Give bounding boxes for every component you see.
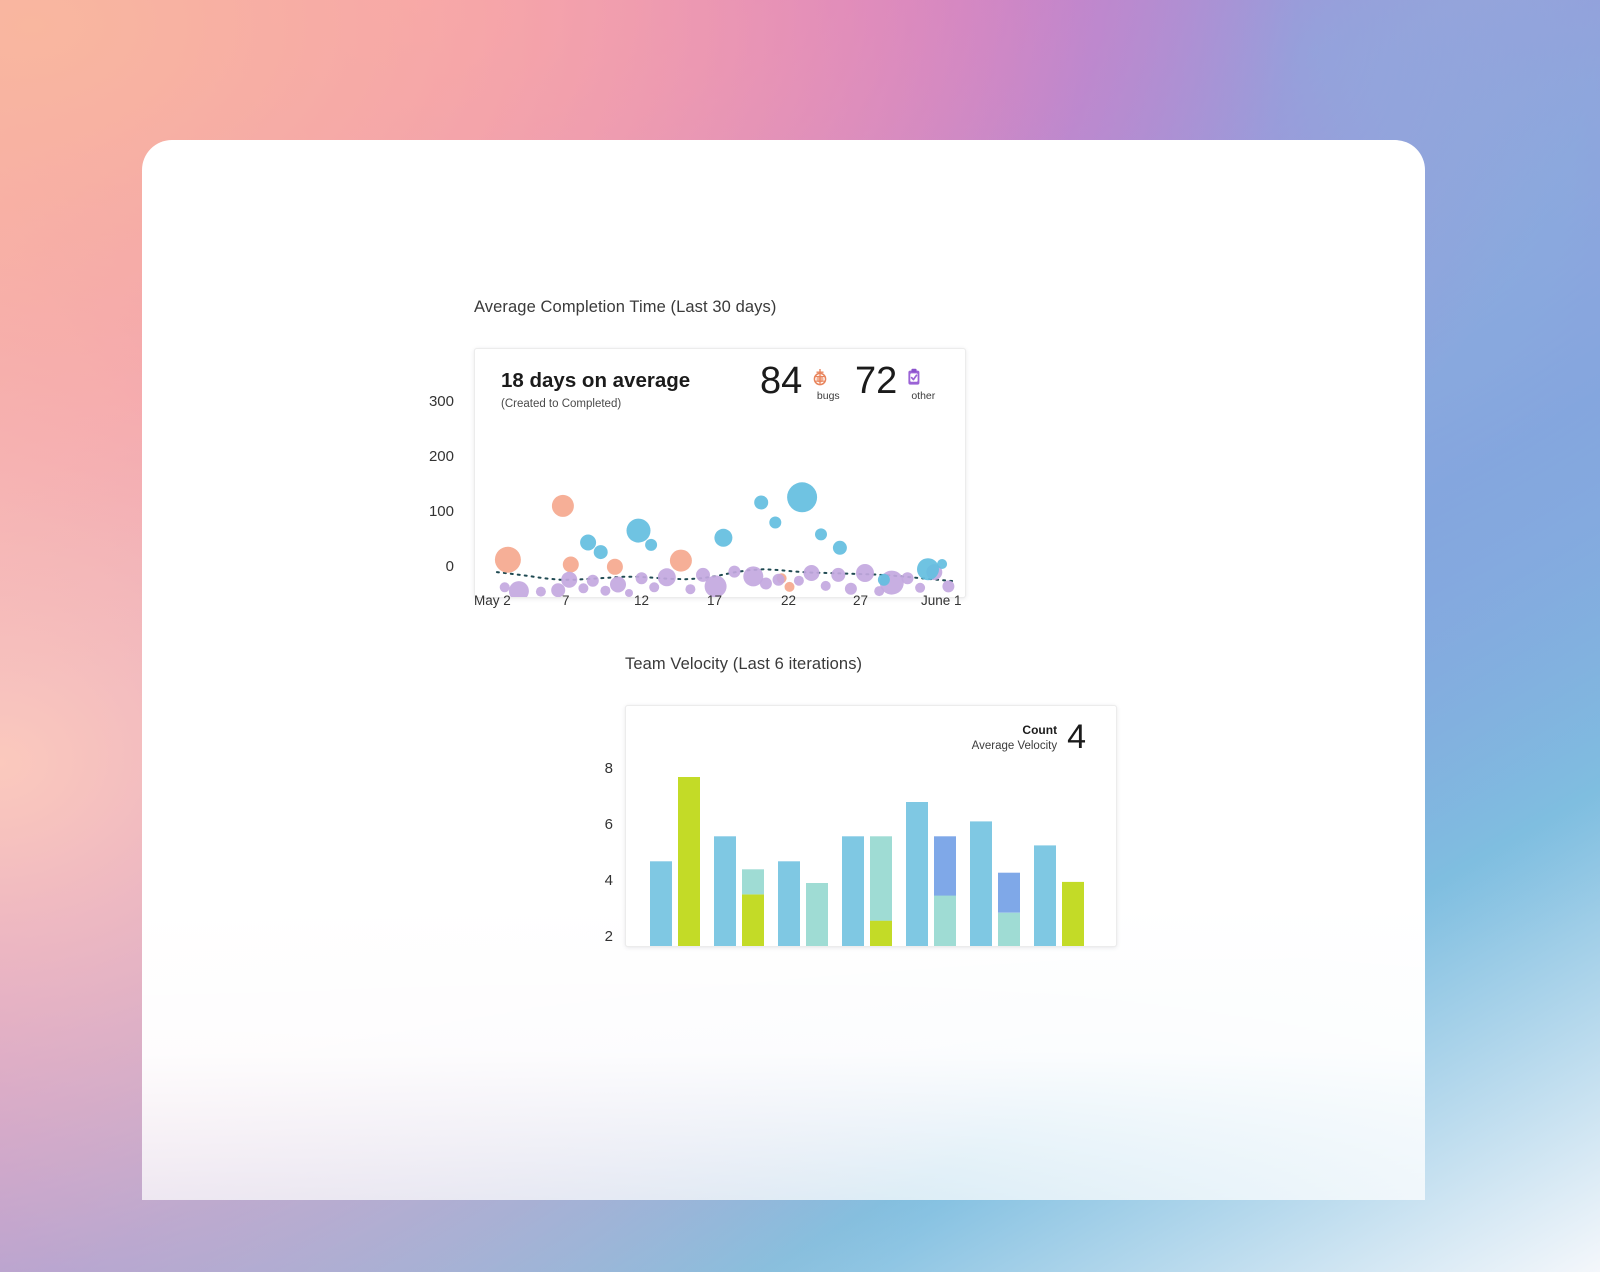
velocity-kpi-line2: Average Velocity	[972, 740, 1057, 752]
bubble-x-axis: May 2 7 12 17 22 27 June 1	[474, 593, 966, 613]
bar-segment[interactable]	[934, 896, 956, 948]
bugs-metric[interactable]: 84 bugs	[760, 362, 845, 402]
velocity-kpi: Count Average Velocity 4	[972, 720, 1086, 754]
bugs-metric-label: bugs	[811, 390, 845, 402]
bubble-kpi-headline: 18 days on average	[501, 369, 690, 393]
bubble-point[interactable]	[804, 565, 820, 581]
bar-group[interactable]	[778, 861, 828, 947]
bubble-x-tick-5: 27	[853, 593, 868, 608]
bubble-y-tick-100: 100	[429, 503, 454, 520]
bar-segment[interactable]	[842, 836, 864, 947]
bubble-point[interactable]	[785, 582, 795, 592]
other-metric-badge: other	[906, 368, 940, 402]
bubble-kpi-header: 18 days on average (Created to Completed…	[475, 349, 965, 423]
bubble-point[interactable]	[670, 550, 692, 572]
bug-icon	[811, 368, 845, 388]
bubble-point[interactable]	[728, 566, 740, 578]
bar-segment[interactable]	[870, 921, 892, 947]
team-velocity-widget: Team Velocity (Last 6 iterations) 8 6 4 …	[625, 655, 1117, 947]
bar-segment[interactable]	[998, 873, 1020, 913]
bubble-point[interactable]	[658, 568, 676, 586]
bubble-point[interactable]	[856, 564, 874, 582]
bar-y-tick-6: 6	[605, 816, 613, 833]
bubble-point[interactable]	[594, 545, 608, 559]
bubble-point[interactable]	[942, 580, 954, 592]
bubble-point[interactable]	[794, 576, 804, 586]
bar-segment[interactable]	[778, 861, 800, 947]
bar-y-tick-4: 4	[605, 872, 613, 889]
other-metric-value: 72	[855, 362, 897, 400]
bubble-point[interactable]	[563, 557, 579, 573]
bubble-point[interactable]	[769, 517, 781, 529]
velocity-kpi-labels: Count Average Velocity	[972, 723, 1057, 752]
bubble-point[interactable]	[917, 558, 939, 580]
bubble-point[interactable]	[760, 578, 772, 590]
bubble-point[interactable]	[610, 577, 626, 593]
bugs-metric-badge: bugs	[811, 368, 845, 402]
bar-segment[interactable]	[970, 821, 992, 947]
bubble-point[interactable]	[773, 574, 785, 586]
average-completion-time-widget: Average Completion Time (Last 30 days) 3…	[474, 298, 966, 598]
bubble-point[interactable]	[578, 583, 588, 593]
bubble-y-tick-0: 0	[446, 558, 454, 575]
bubble-point[interactable]	[495, 547, 521, 573]
bubble-point[interactable]	[821, 581, 831, 591]
bubble-point[interactable]	[636, 572, 648, 584]
bar-segment[interactable]	[678, 777, 700, 947]
bubble-kpi-subtitle: (Created to Completed)	[501, 398, 621, 410]
bubble-x-tick-4: 22	[781, 593, 796, 608]
bar-segment[interactable]	[1062, 882, 1084, 947]
bubble-point[interactable]	[552, 495, 574, 517]
bubble-x-tick-2: 12	[634, 593, 649, 608]
bar-group[interactable]	[1034, 845, 1084, 947]
bubble-y-tick-200: 200	[429, 448, 454, 465]
bubble-point[interactable]	[561, 572, 577, 588]
bubble-point[interactable]	[580, 535, 596, 551]
bubble-point[interactable]	[714, 529, 732, 547]
bubble-point[interactable]	[902, 572, 914, 584]
bar-segment[interactable]	[934, 836, 956, 895]
bubble-point[interactable]	[831, 568, 845, 582]
bubble-chart-card[interactable]: 18 days on average (Created to Completed…	[474, 348, 966, 598]
bar-group[interactable]	[842, 836, 892, 947]
bar-segment[interactable]	[1034, 845, 1056, 947]
bar-segment[interactable]	[806, 883, 828, 947]
bubble-point[interactable]	[500, 582, 510, 592]
bubble-y-tick-300: 300	[429, 393, 454, 410]
bubble-point[interactable]	[607, 559, 623, 575]
bubble-point[interactable]	[878, 574, 890, 586]
bar-y-tick-8: 8	[605, 760, 613, 777]
bubble-chart-title: Average Completion Time (Last 30 days)	[474, 298, 966, 317]
bugs-metric-value: 84	[760, 362, 802, 400]
bar-segment[interactable]	[906, 802, 928, 947]
bar-segment[interactable]	[870, 836, 892, 920]
bubble-point[interactable]	[787, 482, 817, 512]
bar-chart-card[interactable]: Count Average Velocity 4	[625, 705, 1117, 947]
bubble-x-tick-6: June 1	[921, 593, 962, 608]
bar-segment[interactable]	[650, 861, 672, 947]
velocity-kpi-line1: Count	[972, 723, 1057, 737]
bar-segment[interactable]	[742, 869, 764, 894]
other-metric[interactable]: 72 other	[855, 362, 940, 402]
bar-segment[interactable]	[742, 894, 764, 947]
bar-group[interactable]	[970, 821, 1020, 947]
bubble-x-tick-1: 7	[562, 593, 570, 608]
bubble-point[interactable]	[937, 559, 947, 569]
bar-group[interactable]	[714, 836, 764, 947]
bar-group[interactable]	[650, 777, 700, 947]
bubble-point[interactable]	[754, 496, 768, 510]
bubble-point[interactable]	[815, 528, 827, 540]
bar-y-tick-2: 2	[605, 928, 613, 945]
bar-group[interactable]	[906, 802, 956, 947]
other-metric-label: other	[906, 390, 940, 402]
bar-segment[interactable]	[998, 913, 1020, 947]
clipboard-check-icon	[906, 368, 940, 388]
bubble-point[interactable]	[649, 582, 659, 592]
bubble-point[interactable]	[833, 541, 847, 555]
bar-chart-title: Team Velocity (Last 6 iterations)	[625, 655, 1117, 674]
bubble-point[interactable]	[645, 539, 657, 551]
bubble-x-tick-0: May 2	[474, 593, 511, 608]
velocity-kpi-value: 4	[1067, 720, 1086, 754]
bar-segment[interactable]	[714, 836, 736, 947]
bubble-point[interactable]	[587, 575, 599, 587]
bubble-point[interactable]	[915, 583, 925, 593]
bubble-point[interactable]	[627, 519, 651, 543]
bubble-x-tick-3: 17	[707, 593, 722, 608]
